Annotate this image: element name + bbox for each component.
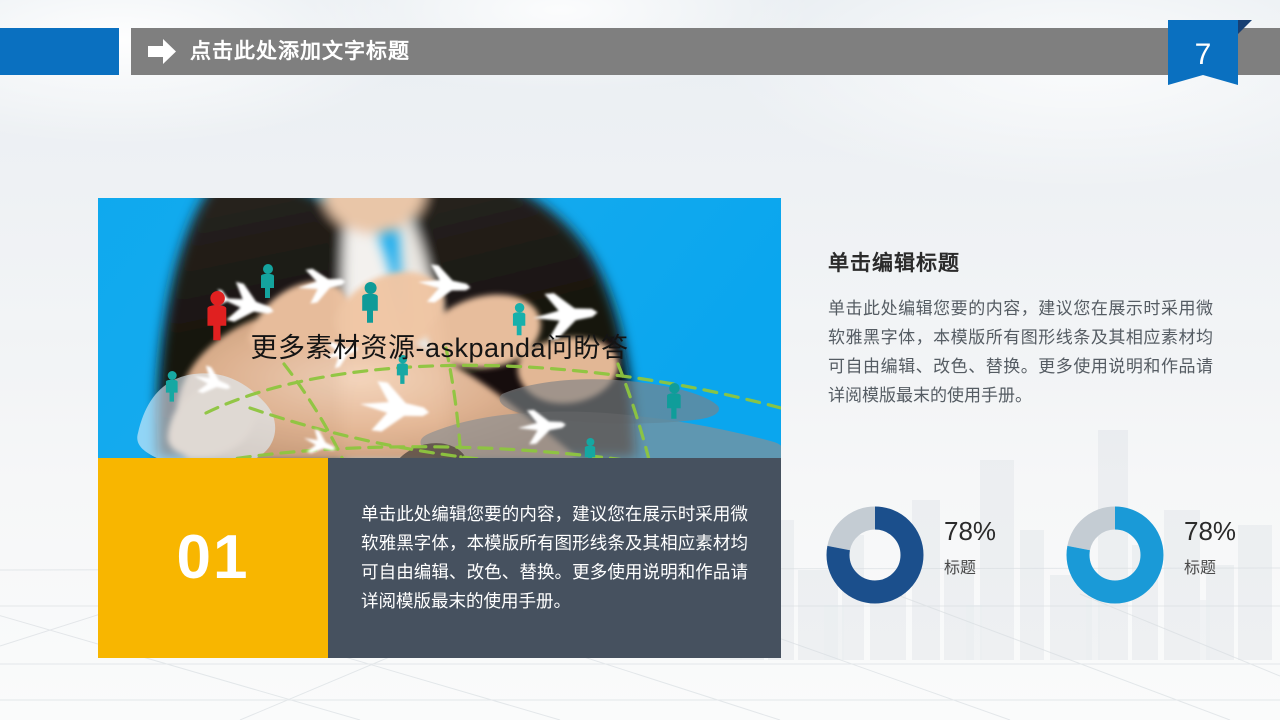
donut-2-percent: 78% bbox=[1184, 517, 1236, 545]
donut-chart-2-labels: 78% 标题 bbox=[1184, 517, 1236, 579]
hero-photo bbox=[98, 198, 781, 458]
slide-canvas: 点击此处添加文字标题 7 bbox=[0, 0, 1280, 720]
donut-chart-1-labels: 78% 标题 bbox=[944, 517, 996, 579]
right-section-title: 单击编辑标题 bbox=[828, 247, 960, 277]
step-number-block: 01 bbox=[98, 458, 328, 658]
donut-chart-2 bbox=[1063, 503, 1167, 607]
donut-1-caption: 标题 bbox=[944, 559, 996, 579]
description-text: 单击此处编辑您要的内容，建议您在展示时采用微软雅黑字体，本模版所有图形线条及其相… bbox=[361, 500, 748, 616]
right-arrow-icon bbox=[148, 39, 176, 64]
page-title: 点击此处添加文字标题 bbox=[190, 36, 410, 68]
page-number-text: 7 bbox=[1195, 38, 1212, 71]
donut-2-caption: 标题 bbox=[1184, 559, 1236, 579]
page-number-ribbon: 7 bbox=[1160, 18, 1252, 88]
donut-chart-1 bbox=[823, 503, 927, 607]
header-blue-block bbox=[0, 28, 119, 75]
description-panel: 单击此处编辑您要的内容，建议您在展示时采用微软雅黑字体，本模版所有图形线条及其相… bbox=[328, 458, 781, 658]
right-section-body: 单击此处编辑您要的内容，建议您在展示时采用微软雅黑字体，本模版所有图形线条及其相… bbox=[828, 294, 1213, 410]
donut-1-percent: 78% bbox=[944, 517, 996, 545]
step-number: 01 bbox=[98, 527, 328, 589]
